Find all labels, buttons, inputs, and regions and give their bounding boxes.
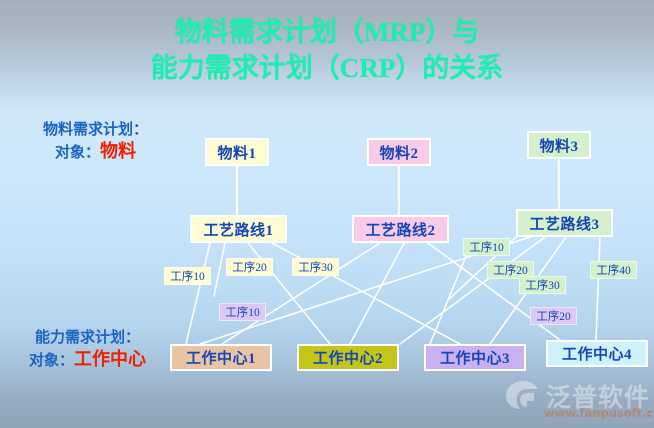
fanpu-logo: 泛普软件 www.fanpusoft.com bbox=[500, 378, 650, 424]
operation-node[interactable]: 工序30 bbox=[292, 258, 339, 276]
page-title: 物料需求计划（MRP）与 能力需求计划（CRP）的关系 bbox=[0, 14, 654, 86]
operation-node[interactable]: 工序20 bbox=[530, 307, 577, 325]
operation-node[interactable]: 工序30 bbox=[519, 276, 566, 294]
routing-workcenter-link bbox=[186, 243, 210, 344]
mrp-caption-title: 物料需求计划： bbox=[43, 122, 148, 138]
fanpu-logo-mark bbox=[504, 379, 544, 411]
crp-caption-title: 能力需求计划： bbox=[35, 330, 140, 346]
routing-node[interactable]: 工艺路线1 bbox=[190, 215, 287, 243]
mrp-object-value: 物料 bbox=[100, 141, 136, 161]
crp-caption-object: 对象：工作中心 bbox=[0, 349, 175, 372]
title-line-2: 能力需求计划（CRP）的关系 bbox=[0, 50, 654, 86]
routing-workcenter-link bbox=[596, 237, 600, 340]
mrp-object-label: 对象： bbox=[55, 145, 100, 161]
fanpu-logo-url: www.fanpusoft.com bbox=[544, 406, 654, 420]
crp-object-value: 工作中心 bbox=[74, 349, 146, 369]
routing-workcenter-link bbox=[214, 243, 225, 296]
material-node[interactable]: 物料2 bbox=[367, 138, 431, 166]
work-center-node[interactable]: 工作中心3 bbox=[424, 344, 526, 371]
slide-canvas: 物料需求计划（MRP）与 能力需求计划（CRP）的关系 物料需求计划： 对象：物… bbox=[0, 0, 654, 428]
crp-caption: 能力需求计划： 对象：工作中心 bbox=[0, 328, 175, 372]
routing-node[interactable]: 工艺路线3 bbox=[516, 209, 613, 237]
title-line-1: 物料需求计划（MRP）与 bbox=[0, 14, 654, 50]
routing-node[interactable]: 工艺路线2 bbox=[352, 215, 449, 243]
work-center-node[interactable]: 工作中心1 bbox=[170, 344, 272, 371]
work-center-node[interactable]: 工作中心4 bbox=[546, 340, 648, 367]
mrp-caption: 物料需求计划： 对象：物料 bbox=[8, 120, 183, 164]
operation-node[interactable]: 工序10 bbox=[164, 267, 211, 285]
operation-node[interactable]: 工序10 bbox=[219, 303, 266, 321]
work-center-node[interactable]: 工作中心2 bbox=[297, 344, 399, 371]
operation-node[interactable]: 工序40 bbox=[590, 261, 637, 279]
operation-node[interactable]: 工序10 bbox=[463, 238, 510, 256]
material-node[interactable]: 物料1 bbox=[205, 138, 269, 166]
mrp-caption-object: 对象：物料 bbox=[8, 141, 183, 164]
operation-node[interactable]: 工序20 bbox=[226, 258, 273, 276]
crp-object-label: 对象： bbox=[29, 353, 74, 369]
material-node[interactable]: 物料3 bbox=[527, 131, 591, 159]
